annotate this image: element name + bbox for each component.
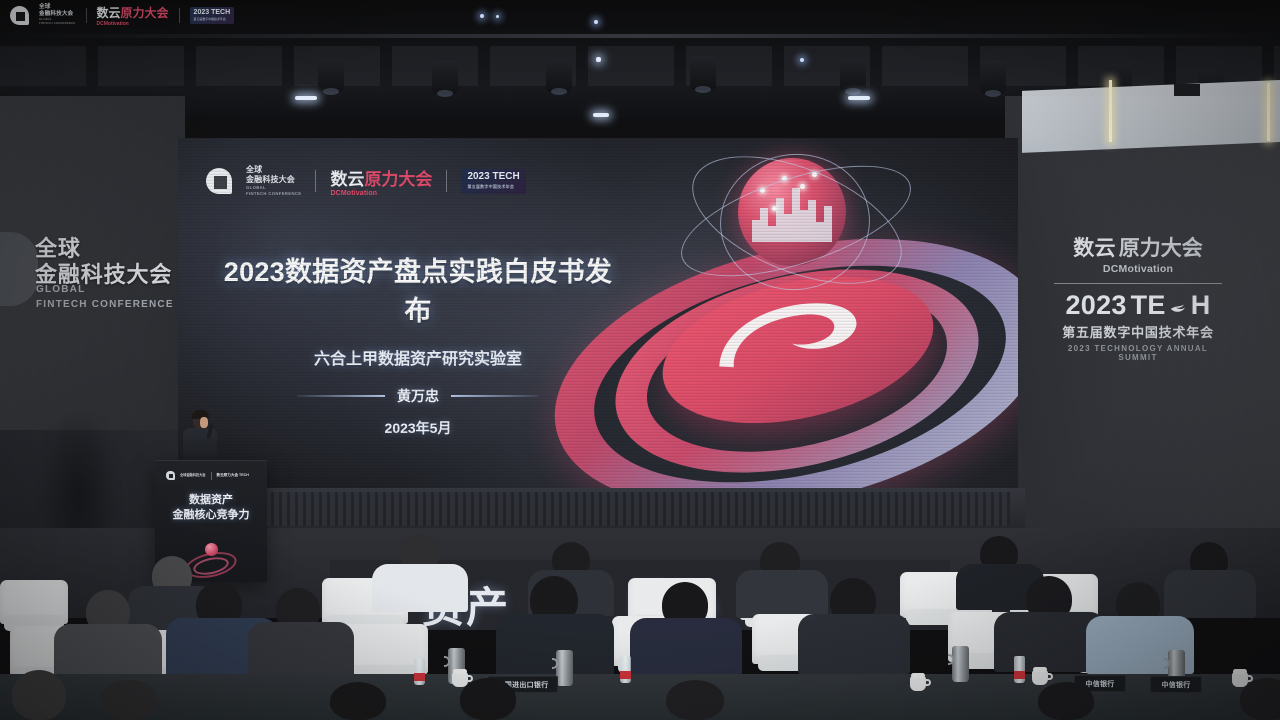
audience-head: [1038, 682, 1094, 720]
broadcast-watermark: 全球 金融科技大会 GLOBAL FINTECH CONFERENCE 数云原力…: [0, 0, 244, 30]
podium-title: 数据资产 金融核心竞争力: [155, 493, 267, 523]
right-wall-signage: 数云 原力大会 DCMotivation 2023 TE H 第五届数字中国技术…: [1048, 232, 1228, 362]
wm-dcm-cn-a: 数云: [97, 6, 121, 20]
podium-gfc-icon: [166, 471, 175, 480]
chair: [0, 580, 68, 624]
speaker-face: [200, 417, 208, 428]
wall-light-strip: [1267, 83, 1270, 141]
nameplate-label: 中信银行: [1085, 679, 1114, 689]
gfc-cn-line1: 全球: [246, 165, 301, 175]
led-light-bar: [593, 113, 609, 117]
audience-torso: [54, 624, 162, 680]
podium-logo-strip: 全球金融科技大会 数云原力大会 TECH: [166, 471, 249, 480]
stage-light: [318, 58, 344, 92]
wm-divider: [86, 8, 87, 23]
audience-torso: [248, 622, 354, 680]
podium-logo-divider: [211, 472, 212, 480]
tech-badge: 2023 TECH 第五届数字中国技术年会: [461, 169, 525, 194]
light-spot: [496, 15, 499, 18]
wm-badge-line1: 2023 TECH: [194, 9, 231, 16]
audience-torso: [1164, 570, 1256, 618]
rule-right: [451, 395, 539, 397]
wm-badge-line2: 第五届数字中国技术年会: [194, 17, 231, 21]
screen-logo-strip: 全球 金融科技大会 GLOBAL FINTECH CONFERENCE 数云原力…: [206, 165, 526, 197]
stage-light: [690, 56, 716, 90]
audience-head: [330, 682, 386, 720]
logo-divider-2: [446, 170, 447, 192]
audience-torso: [630, 618, 742, 678]
dcm-watermark-text: 数云原力大会 DCMotivation: [97, 4, 169, 27]
slide-title: 2023数据资产盘点实践白皮书发布: [218, 250, 618, 328]
rule-left: [297, 395, 385, 397]
audience-torso: [798, 614, 910, 674]
tech-year: 2023: [1066, 290, 1127, 321]
signage-divider: [1054, 283, 1222, 284]
gfc-logo-mark-wall: [0, 232, 38, 306]
left-wall-en-line1: GLOBAL: [36, 283, 174, 298]
wall-fixture: [1174, 84, 1200, 96]
audience-area: 中国进出口银行 中信银行 中信银行: [0, 520, 1280, 720]
light-spot: [594, 20, 598, 24]
gfc-cn-line2: 金融科技大会: [246, 175, 301, 185]
led-light-bar: [596, 57, 601, 62]
tea-mug: [910, 676, 926, 691]
wm-gfc-en-line2: FINTECH CONFERENCE: [39, 22, 76, 26]
podium-logo-cn2: 数云原力大会 TECH: [217, 473, 249, 478]
table-nameplate: 中信银行: [1150, 676, 1202, 693]
dcm-wordmark-screen: 数云原力大会: [330, 165, 432, 190]
dcm-cn-a-screen: 数云: [330, 170, 364, 189]
upper-lit-wall-panel: [1022, 80, 1280, 153]
stage-light: [980, 60, 1006, 94]
audience-head: [666, 680, 724, 720]
tech-word-a: TE: [1131, 290, 1166, 321]
stage-light: [432, 60, 458, 94]
audience-torso: [372, 564, 468, 612]
audience-head: [12, 670, 66, 720]
light-spot: [480, 14, 484, 18]
tea-mug: [1032, 670, 1048, 685]
summit-en: 2023 TECHNOLOGY ANNUAL SUMMIT: [1048, 344, 1228, 362]
tech-wordmark: 2023 TE H: [1048, 290, 1228, 321]
stage-light: [546, 58, 572, 92]
led-light-bar: [295, 96, 317, 100]
dcm-cn-b-screen: 原力大会: [364, 170, 432, 189]
tech-badge-line2: 第五届数字中国技术年会: [467, 184, 519, 190]
nameplate-label: 中信银行: [1161, 680, 1190, 690]
slide-3d-artwork: [570, 156, 1018, 486]
audience-torso: [736, 570, 828, 618]
wm-dcm-wordmark: 数云原力大会: [97, 4, 169, 21]
wm-dcm-cn-b: 原力大会: [121, 6, 169, 20]
tech-badge-line1: 2023 TECH: [467, 172, 519, 182]
gfc-watermark-icon: [10, 6, 29, 25]
wm-divider-2: [179, 8, 180, 23]
podium-logo-cn: 全球金融科技大会: [180, 473, 206, 477]
dcm-cn-b: 原力大会: [1119, 232, 1203, 262]
summit-cn: 第五届数字中国技术年会: [1048, 322, 1228, 341]
dcm-en-screen: DCMotivation: [330, 190, 432, 197]
stage-light: [840, 58, 866, 92]
lighting-truss: [0, 46, 1280, 86]
logo-divider: [315, 170, 316, 192]
audience-head: [100, 680, 158, 720]
podium-title-line1: 数据资产: [155, 493, 267, 508]
conference-photo: 全球 金融科技大会 GLOBAL FINTECH CONFERENCE 数云 原…: [0, 0, 1280, 720]
main-led-screen: 全球 金融科技大会 GLOBAL FINTECH CONFERENCE 数云原力…: [178, 138, 1018, 490]
gfc-watermark-text: 全球 金融科技大会 GLOBAL FINTECH CONFERENCE: [39, 4, 76, 26]
wm-tech-badge: 2023 TECH 第五届数字中国技术年会: [190, 7, 235, 24]
truss-rail: [0, 34, 1280, 38]
water-bottle: [620, 656, 631, 683]
thermos-flask: [952, 646, 969, 682]
water-bottle: [1014, 656, 1025, 683]
led-light-bar: [848, 96, 870, 100]
slide-speaker-name: 黄万忠: [397, 386, 439, 406]
thermos-flask: [556, 650, 573, 686]
left-wall-cn-line1: 全球: [35, 236, 172, 262]
dcm-en: DCMotivation: [1048, 263, 1228, 275]
water-bottle: [414, 658, 425, 685]
dcm-cn-a: 数云: [1073, 232, 1115, 262]
wm-dcm-en: DCMotivation: [97, 21, 169, 27]
wall-light-strip: [1109, 80, 1112, 142]
tech-word-b: H: [1191, 290, 1211, 321]
left-wall-en-text: GLOBAL FINTECH CONFERENCE: [36, 283, 174, 312]
left-wall-en-line2: FINTECH CONFERENCE: [36, 298, 174, 313]
slide-subtitle: 六合上甲数据资产研究实验室: [218, 345, 618, 369]
dcm-wordmark: 数云 原力大会: [1048, 232, 1228, 262]
swirl-icon: [1167, 294, 1190, 317]
light-spot: [800, 58, 804, 62]
gfc-en-line2: FINTECH CONFERENCE: [246, 191, 301, 197]
left-wall-cn-text: 全球 金融科技大会: [35, 236, 172, 288]
wm-gfc-cn-line1: 全球: [39, 4, 76, 11]
audience-head: [1240, 678, 1280, 720]
gfc-logo-icon: [206, 168, 232, 194]
dcm-logo-text: 数云原力大会 DCMotivation: [330, 165, 432, 197]
gfc-logo-text: 全球 金融科技大会 GLOBAL FINTECH CONFERENCE: [246, 165, 301, 197]
audience-head: [460, 678, 516, 720]
